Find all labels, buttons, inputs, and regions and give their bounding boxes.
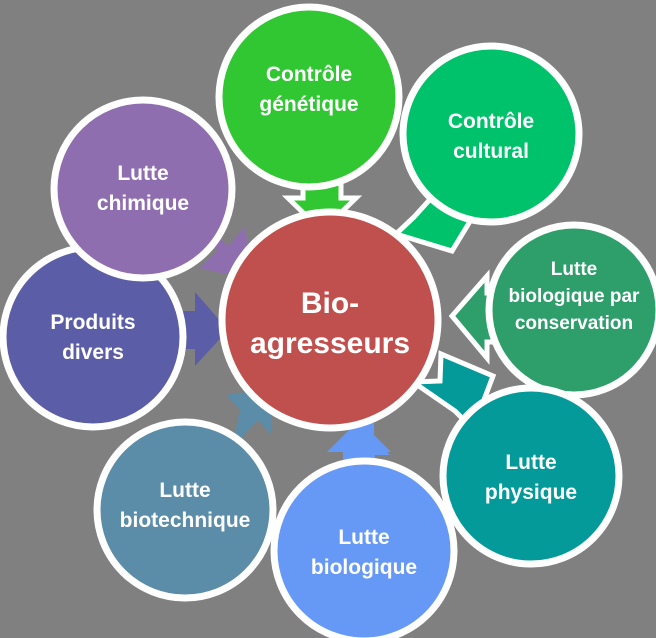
node-label-controle-cultural-2: cultural	[453, 140, 529, 163]
diagram-canvas: Contrôle génétique Contrôle cultural Lut…	[0, 0, 656, 638]
node-label-lutte-biologique-par-conservation-2: biologique par	[509, 286, 640, 307]
node-label-lutte-physique: Lutte	[505, 451, 556, 474]
node-label-lutte-chimique-2: chimique	[97, 192, 189, 215]
node-circle-lutte-biologique[interactable]	[274, 461, 454, 638]
node-label-produits-divers: Produits	[50, 311, 135, 334]
node-circle-lutte-physique[interactable]	[443, 388, 619, 564]
node-circle-lutte-chimique[interactable]	[54, 100, 232, 278]
node-circle-lutte-biologique-par-conservation[interactable]	[489, 225, 656, 395]
node-label-lutte-biologique-par-conservation-3: conservation	[515, 313, 633, 334]
center-label-line2: agresseurs	[250, 327, 410, 360]
node-label-lutte-chimique: Lutte	[117, 162, 168, 185]
node-label-lutte-biotechnique-2: biotechnique	[120, 509, 251, 532]
diagram-svg: Contrôle génétique Contrôle cultural Lut…	[0, 0, 656, 638]
node-label-controle-cultural: Contrôle	[448, 110, 534, 133]
node-label-lutte-biologique: Lutte	[338, 526, 389, 549]
center-label-line1: Bio-	[301, 287, 359, 320]
node-label-lutte-biologique-par-conservation: Lutte	[551, 259, 597, 280]
node-label-lutte-biologique-2: biologique	[311, 556, 417, 579]
node-circle-bio-agresseurs[interactable]	[222, 212, 438, 428]
node-label-lutte-physique-2: physique	[485, 481, 577, 504]
node-label-lutte-biotechnique: Lutte	[159, 479, 210, 502]
node-label-controle-genetique-2: génétique	[259, 93, 358, 116]
node-label-controle-genetique: Contrôle	[266, 63, 352, 86]
node-circle-controle-cultural[interactable]	[403, 46, 579, 222]
node-label-produits-divers-2: divers	[62, 341, 124, 364]
